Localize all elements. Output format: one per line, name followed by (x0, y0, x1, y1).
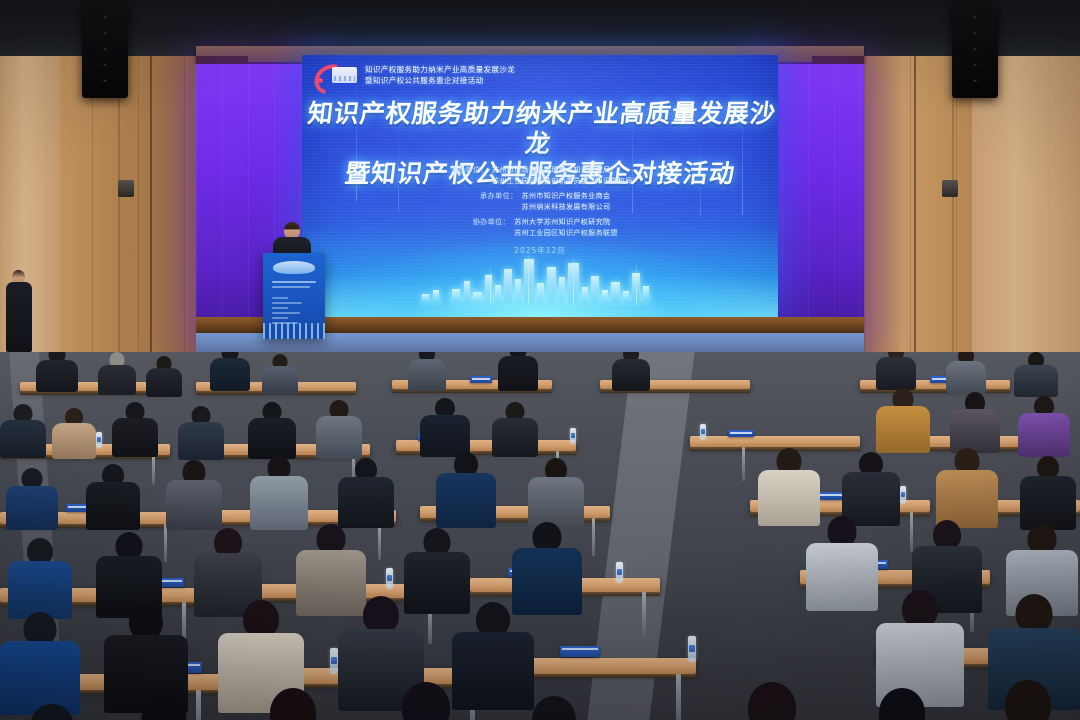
attendee (876, 590, 964, 704)
attendee (0, 404, 46, 456)
attendee (146, 356, 182, 396)
attendee (1020, 456, 1076, 528)
logo-wordmark-shape (332, 67, 357, 83)
attendee (806, 516, 878, 608)
attendee (104, 604, 188, 710)
left-wall-fixture (118, 180, 134, 197)
attendee (8, 538, 72, 616)
water-bottle (688, 636, 696, 662)
audience-seating-area (0, 352, 1080, 720)
attendee (210, 352, 250, 390)
attendee (1014, 352, 1058, 396)
attendee (842, 452, 900, 524)
organizer-values: 苏州市市场监督管理局（知识产权局） 苏州工业园区科技创新委员会（知识产权局） (492, 165, 640, 187)
podium-graphic (273, 261, 315, 274)
table-name-card (470, 376, 492, 383)
attendee (936, 448, 998, 526)
attendee (436, 452, 496, 526)
led-screen: 知识产权服务助力纳米产业高质量发展沙龙 暨知识产权公共服务惠企对接活动 知识产权… (302, 55, 778, 317)
left-line-array-speaker (82, 2, 128, 98)
attendee (112, 402, 158, 456)
attendee (98, 352, 136, 394)
staff-body (6, 282, 32, 352)
attendee (178, 406, 224, 458)
water-bottle (900, 486, 906, 504)
attendee (876, 388, 930, 452)
attendee (846, 688, 958, 720)
attendee (238, 688, 348, 720)
water-bottle (96, 432, 102, 448)
water-bottle (616, 562, 623, 583)
event-logo-icon (314, 63, 358, 87)
attendee (876, 352, 916, 390)
right-line-array-speaker (952, 2, 998, 98)
attendee (0, 704, 104, 720)
organizer-value: 苏州市市场监督管理局（知识产权局） (492, 165, 640, 176)
organizer-label: 承办单位： (470, 191, 518, 202)
organizer-row: 承办单位： 苏州市知识产权服务业商会 苏州纳米科技发展有限公司 (470, 191, 611, 213)
attendee (166, 460, 222, 528)
podium-skyline-graphic (263, 323, 325, 339)
table-name-card (560, 646, 600, 657)
podium (263, 253, 325, 339)
attendee (250, 456, 308, 528)
water-bottle (700, 424, 706, 440)
attendee (248, 402, 296, 458)
led-header-line-1: 知识产权服务助力纳米产业高质量发展沙龙 (365, 65, 515, 74)
led-title-line-1: 知识产权服务助力纳米产业高质量发展沙龙 (302, 99, 778, 159)
logo-dot-shape (318, 78, 323, 83)
attendee (498, 352, 538, 390)
attendee (262, 354, 298, 394)
organizer-row: 主办单位： 苏州市市场监督管理局（知识产权局） 苏州工业园区科技创新委员会（知识… (440, 165, 640, 187)
attendee (368, 682, 484, 720)
city-skyline-graphic (302, 247, 778, 303)
attendee (408, 352, 446, 390)
attendee (420, 398, 470, 456)
attendee (6, 468, 58, 528)
attendee (96, 532, 162, 614)
organizer-label: 主办单位： (440, 165, 488, 176)
right-wall-fixture (942, 180, 958, 197)
led-header: 知识产权服务助力纳米产业高质量发展沙龙 暨知识产权公共服务惠企对接活动 (314, 63, 515, 87)
standing-staff-member (6, 270, 32, 352)
led-header-line-2: 暨知识产权公共服务惠企对接活动 (365, 76, 515, 85)
attendee (972, 680, 1080, 720)
attendee (110, 696, 218, 720)
attendee (1018, 396, 1070, 456)
attendee (316, 400, 362, 458)
attendee (758, 448, 820, 524)
organizer-values: 苏州市知识产权服务业商会 苏州纳米科技发展有限公司 (522, 191, 611, 213)
table-name-card (728, 430, 754, 437)
attendee (714, 682, 830, 720)
attendee-table (516, 658, 696, 674)
attendee (612, 352, 650, 390)
attendee (0, 612, 80, 712)
attendee (86, 464, 140, 528)
water-bottle (330, 648, 338, 674)
conference-hall-photo: 知识产权服务助力纳米产业高质量发展沙龙 暨知识产权公共服务惠企对接活动 知识产权… (0, 0, 1080, 720)
led-header-text: 知识产权服务助力纳米产业高质量发展沙龙 暨知识产权公共服务惠企对接活动 (365, 65, 515, 85)
water-bottle (386, 568, 393, 589)
water-bottle (570, 428, 576, 444)
organizer-value: 苏州纳米科技发展有限公司 (522, 202, 611, 213)
attendee (492, 402, 538, 456)
attendee (338, 458, 394, 526)
organizer-value: 苏州市知识产权服务业商会 (522, 191, 611, 202)
attendee (946, 352, 986, 392)
attendee-table (690, 436, 860, 447)
attendee (52, 408, 96, 458)
attendee (950, 392, 1000, 452)
attendee (512, 522, 582, 612)
organizer-value: 苏州工业园区科技创新委员会（知识产权局） (492, 176, 640, 187)
attendee (528, 458, 584, 526)
attendee (500, 696, 608, 720)
attendee (36, 352, 78, 392)
